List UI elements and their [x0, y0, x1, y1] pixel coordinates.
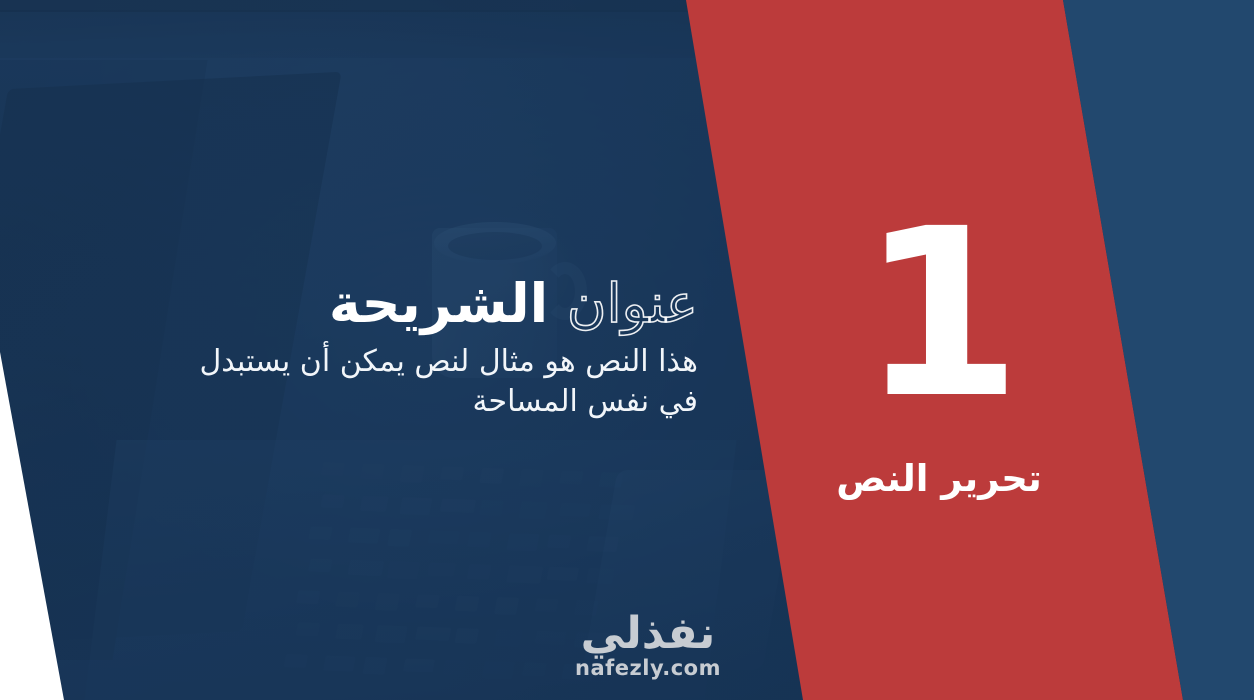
slide-subtitle: هذا النص هو مثال لنص يمكن أن يستبدل في ن… — [186, 342, 698, 422]
presentation-slide: عنوان الشريحة هذا النص هو مثال لنص يمكن … — [0, 0, 1254, 700]
step-number: 1 — [849, 212, 1029, 416]
slide-text-block: عنوان الشريحة هذا النص هو مثال لنص يمكن … — [186, 276, 698, 422]
logo-arabic-wordmark: نفذلي — [548, 612, 748, 656]
nafezly-logo: نفذلي nafezly.com — [548, 612, 748, 679]
logo-domain-text: nafezly.com — [548, 658, 748, 679]
title-solid-word: الشريحة — [329, 272, 567, 335]
page-title: عنوان الشريحة — [186, 276, 698, 332]
title-outline-word: عنوان — [567, 272, 698, 335]
step-label: تحرير النص — [829, 457, 1049, 500]
